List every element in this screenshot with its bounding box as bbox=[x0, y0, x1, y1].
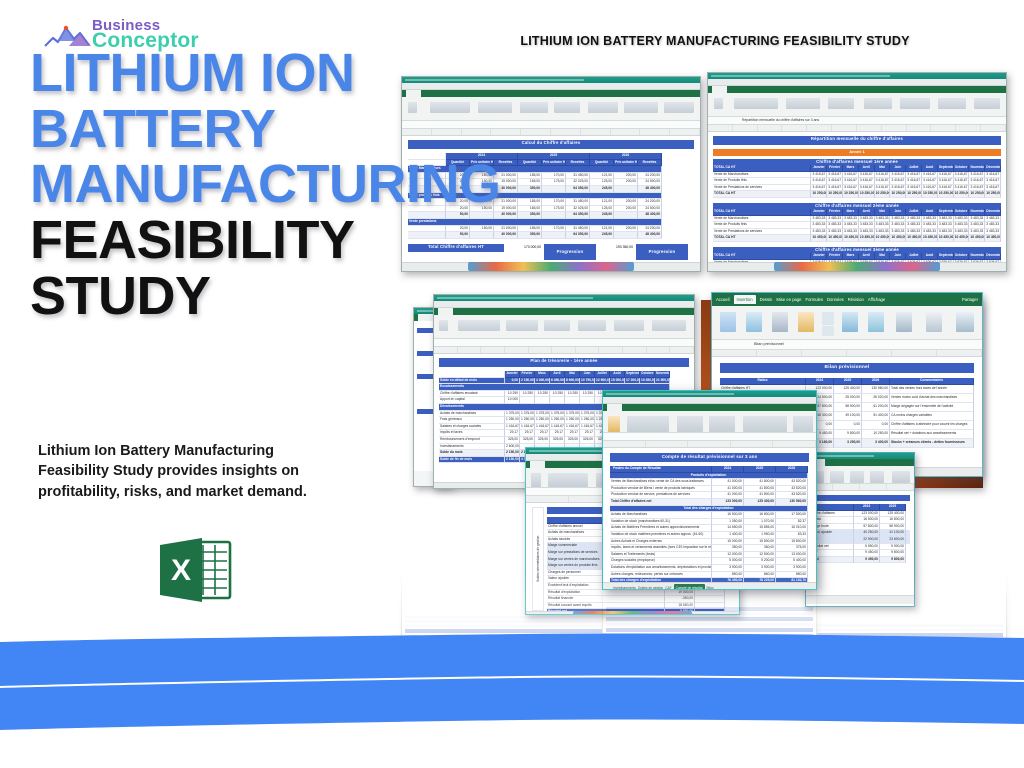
tab-mise-en-page[interactable]: Mise en page bbox=[776, 297, 801, 302]
column-headers[interactable] bbox=[603, 441, 816, 448]
formula-bar[interactable] bbox=[603, 433, 816, 441]
sheet-title: Plan de trésorerie - 1ère année bbox=[439, 358, 689, 367]
month-header-row: JanvierFévrierMars AvrilMaiJuin JuilletA… bbox=[439, 371, 689, 378]
formula-bar[interactable]: Répartition mensuelle du chiffre d'affai… bbox=[708, 117, 1006, 125]
document-heading: LITHIUM ION BATTERY MANUFACTURING FEASIB… bbox=[455, 34, 975, 48]
ribbon[interactable] bbox=[603, 411, 816, 433]
mac-dock[interactable] bbox=[774, 262, 941, 271]
ribbon-tab-bar[interactable]: Accueil Insertion Dessin Mise en page Fo… bbox=[712, 293, 982, 306]
section-label: Produits d'exploitation bbox=[610, 473, 809, 480]
table-row[interactable]: Variation de stock matières premières et… bbox=[610, 532, 809, 539]
table-row[interactable]: CAF9 450,009 800,00 bbox=[810, 550, 910, 557]
section-label: Total des charges d'exploitation bbox=[610, 506, 809, 513]
sheet-title: Bilan prévisionnel bbox=[720, 363, 974, 373]
brand-logo[interactable]: Business Conceptor bbox=[44, 18, 214, 60]
page-title: LITHIUM ION BATTERY MANUFACTURING FEASIB… bbox=[30, 46, 390, 324]
ribbon[interactable] bbox=[434, 315, 694, 339]
quick-access-toolbar[interactable] bbox=[434, 301, 694, 308]
table-row[interactable]: Vente de Produits finis 3 416,673 416,67… bbox=[713, 178, 1001, 185]
tab-accueil[interactable]: Accueil bbox=[716, 297, 730, 302]
total-row: Total Chiffre d'affaires net123 000,0012… bbox=[610, 499, 809, 506]
mac-menubar[interactable] bbox=[603, 391, 816, 397]
table-row[interactable]: Achats de Marchandises16 500,0016 800,00… bbox=[610, 512, 809, 519]
table-row[interactable]: Production vendue de service, prestation… bbox=[610, 492, 809, 499]
sheet-title: Compte de résultat prévisionnel sur 3 an… bbox=[610, 453, 809, 462]
grand-total-value: 173 000,00 bbox=[507, 244, 541, 260]
quick-access-toolbar[interactable] bbox=[603, 397, 816, 404]
table-row[interactable]: Valeur ajoutée40 250,0041 100,00 bbox=[810, 530, 910, 537]
table-row[interactable]: Vente de Prestations de services 3 483,3… bbox=[713, 229, 1001, 236]
column-headers[interactable] bbox=[434, 347, 694, 354]
table-row[interactable]: Achats de Matières Premières et autres a… bbox=[610, 525, 809, 532]
column-header-row: 20242025 bbox=[810, 504, 910, 511]
grand-total-value: 193 350,00 bbox=[599, 244, 633, 260]
mac-menubar[interactable] bbox=[708, 73, 1006, 79]
tab-revision[interactable]: Révision bbox=[848, 297, 864, 302]
progression-button[interactable]: Progression bbox=[544, 244, 596, 260]
formula-bar[interactable] bbox=[402, 121, 700, 129]
table-row[interactable]: Vente de Produits finis 3 483,333 483,33… bbox=[713, 222, 1001, 229]
table-row[interactable]: Chiffre d'affaires123 000,00125 400,00 bbox=[810, 511, 910, 518]
status-bar[interactable] bbox=[708, 262, 1006, 271]
column-header-row: Ratios 2024 2025 2026 Commentaires bbox=[720, 378, 974, 385]
ribbon-tabs[interactable] bbox=[603, 404, 816, 411]
tab-donnees[interactable]: Données bbox=[827, 297, 844, 302]
progression-button[interactable]: Progression bbox=[636, 244, 688, 260]
window-income-statement[interactable]: Compte de résultat prévisionnel sur 3 an… bbox=[602, 390, 817, 590]
ribbon[interactable] bbox=[806, 466, 914, 484]
section-label: Vente prestations bbox=[408, 219, 694, 226]
table-row[interactable]: Production vendue de Biens / vente de pr… bbox=[610, 486, 809, 493]
hero-panel: LITHIUM ION BATTERY MANUFACTURING FEASIB… bbox=[0, 0, 400, 640]
sheet-title: Répartition mensuelle du chiffre d'affai… bbox=[713, 136, 1001, 145]
total-row: Total9 450,009 800,00 bbox=[810, 557, 910, 564]
formula-bar[interactable]: Bilan prévisionnel bbox=[712, 340, 982, 350]
table-row[interactable]: Vente de Marchandises 3 483,333 483,333 … bbox=[713, 216, 1001, 223]
column-headers[interactable] bbox=[712, 350, 982, 357]
table-row[interactable]: Salaires et Traitements (bruts)12 000,00… bbox=[610, 552, 809, 559]
table-row[interactable]: Résultat net5 550,005 900,00 bbox=[810, 544, 910, 551]
ribbon-tabs[interactable] bbox=[806, 459, 914, 466]
tab-formules[interactable]: Formules bbox=[806, 297, 823, 302]
mac-dock[interactable] bbox=[468, 262, 635, 271]
year-banner: Année 1 bbox=[713, 149, 1001, 156]
ribbon[interactable] bbox=[708, 93, 1006, 117]
table-row[interactable]: Marge brute57 800,0058 900,00 bbox=[810, 524, 910, 531]
total-row: TOTAL CA HT 10 450,0010 450,0010 450,001… bbox=[713, 235, 1001, 242]
month-header-row: TOTAL CA HT JanvierFévrierMars AvrilMaiJ… bbox=[713, 209, 1001, 216]
mac-menubar[interactable] bbox=[402, 77, 700, 83]
screenshot-collage: Calcul du Chiffre d'affaires 2024 2025 2… bbox=[395, 62, 1024, 622]
column-headers[interactable] bbox=[402, 129, 700, 136]
decorative-waves bbox=[0, 608, 1024, 768]
quick-access-toolbar[interactable] bbox=[708, 79, 1006, 86]
ribbon[interactable] bbox=[712, 306, 982, 340]
hero-subtitle: Lithium Ion Battery Manufacturing Feasib… bbox=[38, 439, 310, 505]
mountain-chart-icon bbox=[44, 24, 96, 50]
share-button[interactable]: Partager bbox=[962, 297, 978, 302]
status-bar[interactable] bbox=[402, 262, 700, 271]
column-headers[interactable] bbox=[708, 125, 1006, 132]
grand-total-label: Total Chiffre d'affaires HT bbox=[408, 244, 504, 252]
worksheet-grid[interactable]: Compte de résultat prévisionnel sur 3 an… bbox=[603, 448, 816, 582]
ribbon-tabs[interactable] bbox=[402, 90, 700, 97]
formula-bar[interactable] bbox=[434, 339, 694, 347]
month-header-row: TOTAL CA HT JanvierFévrierMars AvrilMaiJ… bbox=[713, 253, 1001, 260]
total-row: TOTAL CA HT 10 250,0010 250,0010 250,001… bbox=[713, 191, 1001, 198]
table-row[interactable]: Variation de stock (marchandises 60-31)1… bbox=[610, 519, 809, 526]
svg-text:X: X bbox=[171, 554, 191, 587]
column-header-row: Postes du Compte de Résultat 2024 2025 2… bbox=[610, 466, 809, 473]
section-total-row: 50,0040 000,00 350,0064 350,00 245,0048 … bbox=[408, 232, 694, 239]
quick-access-toolbar[interactable] bbox=[402, 83, 700, 90]
logo-conceptor-text: Conceptor bbox=[92, 30, 199, 51]
column-headers[interactable] bbox=[806, 484, 914, 491]
tab-dessin[interactable]: Dessin bbox=[760, 297, 773, 302]
table-row[interactable]: 20,00150,0021 000,00 185,00170,0031 450,… bbox=[408, 226, 694, 233]
window-monthly-revenue[interactable]: Répartition mensuelle du chiffre d'affai… bbox=[707, 72, 1007, 272]
page-title-black: FEASIBILITY STUDY bbox=[30, 210, 354, 326]
ribbon-tabs[interactable] bbox=[708, 86, 1006, 93]
ribbon-tabs[interactable] bbox=[434, 308, 694, 315]
table-row[interactable]: Ventes de Marchandises et/ou vente de CA… bbox=[610, 479, 809, 486]
excel-file-icon: X bbox=[158, 536, 232, 604]
tab-insertion[interactable]: Insertion bbox=[734, 295, 756, 304]
table-row[interactable]: Achats16 500,0016 800,00 bbox=[810, 517, 910, 524]
table-row[interactable]: Vente de Prestations de services 3 416,6… bbox=[713, 185, 1001, 192]
table-row[interactable]: Vente de Marchandises 3 416,673 416,673 … bbox=[713, 172, 1001, 179]
mac-menubar[interactable] bbox=[434, 295, 694, 301]
sheet-title: Calcul du Chiffre d'affaires bbox=[408, 140, 694, 149]
table-row[interactable]: Autres Achats et Charges externes15 000,… bbox=[610, 539, 809, 546]
table-row[interactable]: Solde en début de mois 0,002 150,004 300… bbox=[439, 378, 689, 385]
tab-affichage[interactable]: Affichage bbox=[868, 297, 885, 302]
table-row[interactable]: EBE22 900,0023 600,00 bbox=[810, 537, 910, 544]
ribbon[interactable] bbox=[402, 97, 700, 121]
table-row[interactable]: Impôts, taxes et versements assimilés (h… bbox=[610, 545, 809, 552]
worksheet-grid[interactable]: Répartition mensuelle du chiffre d'affai… bbox=[708, 132, 1006, 262]
month-header-row: TOTAL CA HT JanvierFévrierMars AvrilMaiJ… bbox=[713, 165, 1001, 172]
table-row[interactable]: Charges sociales (employeur)5 000,005 20… bbox=[610, 558, 809, 565]
